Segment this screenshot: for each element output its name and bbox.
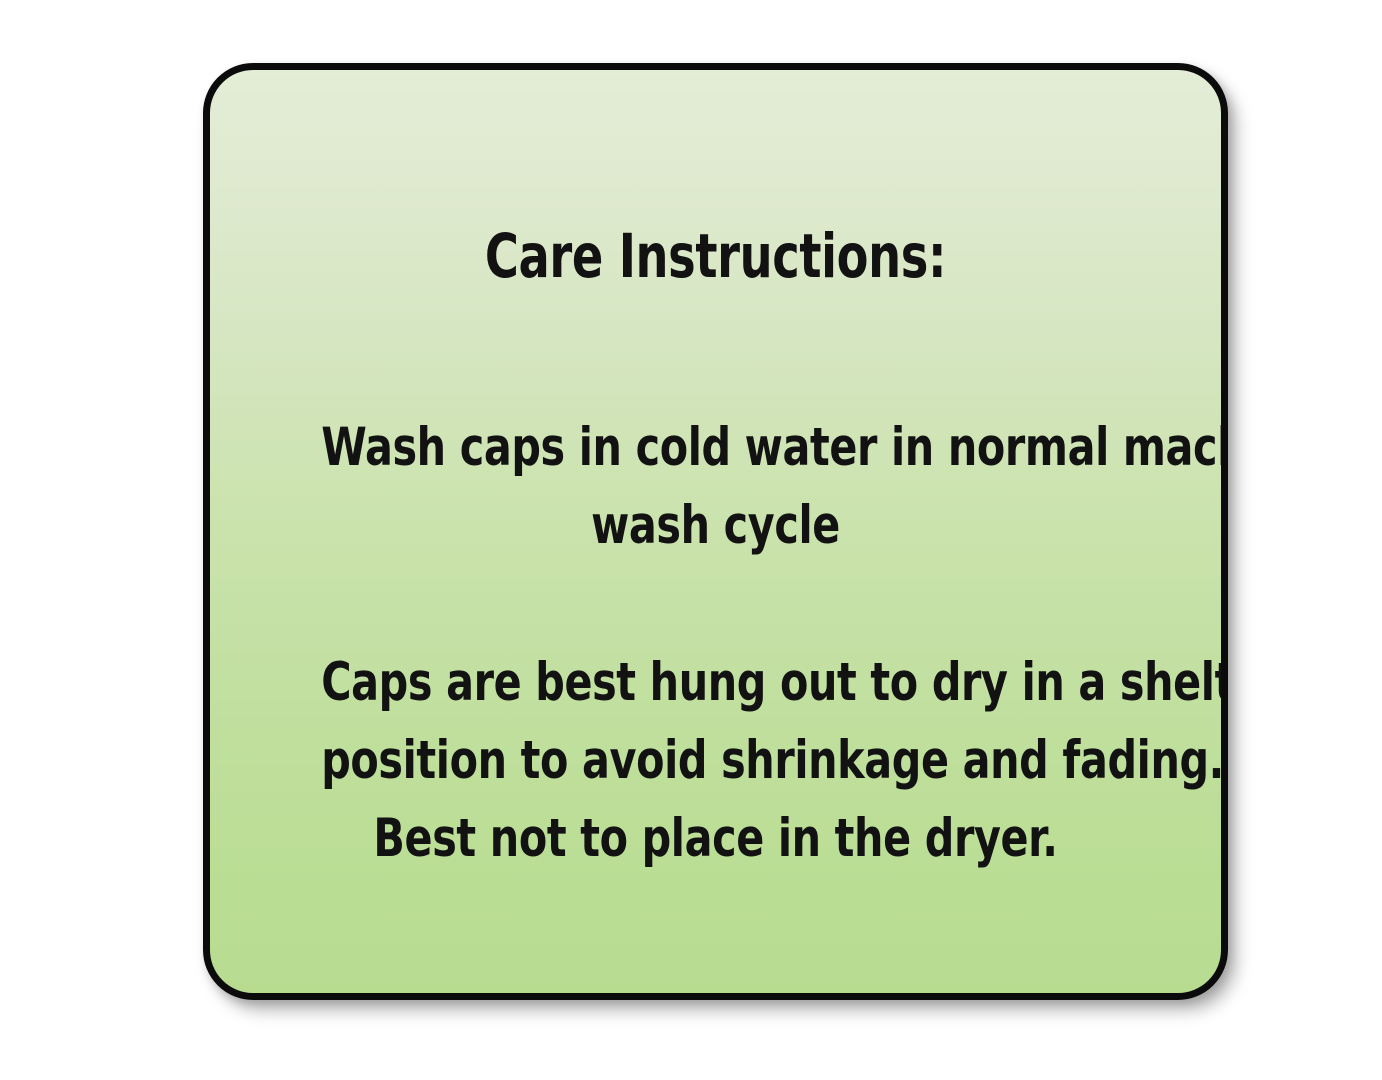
washing-instructions-paragraph: Wash caps in cold water in normal machin… (210, 409, 1221, 565)
washing-instructions-line: wash cycle (321, 487, 1110, 565)
drying-instructions-paragraph: Caps are best hung out to dry in a shelt… (210, 644, 1221, 878)
washing-instructions-line: Wash caps in cold water in normal machin… (321, 409, 1110, 487)
card-content: Care Instructions: Wash caps in cold wat… (210, 70, 1221, 993)
care-instructions-card: Care Instructions: Wash caps in cold wat… (203, 63, 1228, 1000)
drying-instructions-line: Caps are best hung out to dry in a shelt… (321, 644, 1110, 722)
page-title: Care Instructions: (331, 222, 1099, 292)
drying-instructions-line: Best not to place in the dryer. (321, 800, 1110, 878)
drying-instructions-line: position to avoid shrinkage and fading. (321, 722, 1110, 800)
page-canvas: Care Instructions: Wash caps in cold wat… (0, 0, 1382, 1080)
